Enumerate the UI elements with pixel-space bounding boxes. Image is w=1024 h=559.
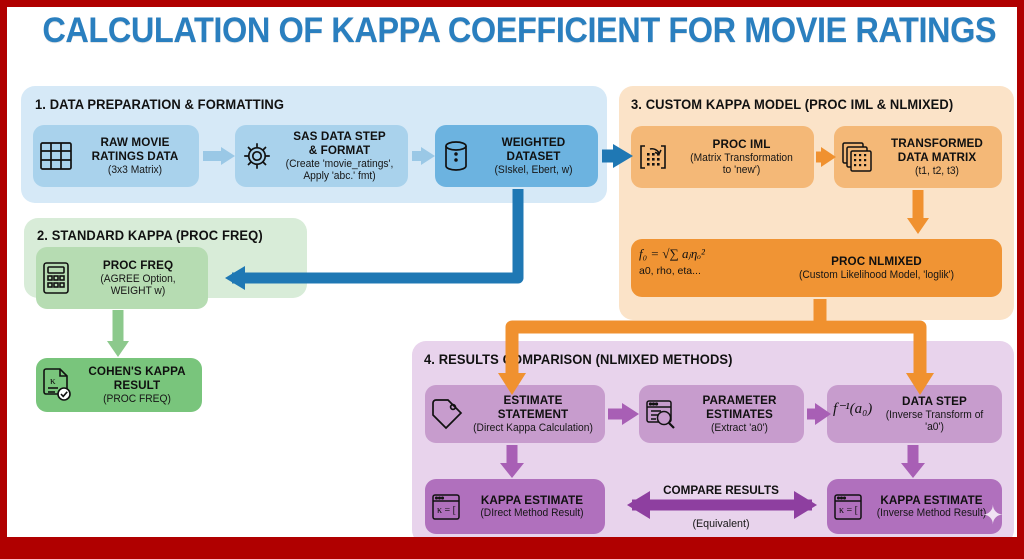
node-estimate-statement[interactable]: ESTIMATE STATEMENT (Direct Kappa Calcula… (425, 385, 605, 443)
document-kappa-check-icon: κ (42, 367, 74, 403)
node-proc-freq[interactable]: PROC FREQ (AGREE Option, WEIGHT w) (36, 247, 208, 309)
section-4-title: 4. RESULTS COMPARISON (NLMIXED METHODS) (424, 352, 733, 367)
gear-icon (241, 140, 273, 172)
window-search-icon (645, 398, 677, 430)
node-text: SAS DATA STEP & FORMAT (Create 'movie_ra… (277, 130, 402, 182)
node-text: ESTIMATE STATEMENT (Direct Kappa Calcula… (467, 394, 599, 434)
calculator-icon (42, 261, 70, 295)
database-icon (441, 139, 471, 173)
page-title: CALCULATION OF KAPPA COEFFICIENT FOR MOV… (42, 11, 981, 51)
matrix-refresh-icon (637, 140, 671, 174)
section-3-title: 3. CUSTOM KAPPA MODEL (PROC IML & NLMIXE… (631, 97, 953, 112)
svg-text:κ = [: κ = [ (839, 505, 858, 516)
node-kappa-estimate-inverse[interactable]: κ = [ KAPPA ESTIMATE (Inverse Method Res… (827, 479, 1002, 534)
compare-results-label: COMPARE RESULTS (626, 483, 816, 497)
node-text: WEIGHTED DATASET (SIskel, Ebert, w) (475, 136, 592, 176)
node-text: RAW MOVIE RATINGS DATA (3x3 Matrix) (77, 136, 193, 176)
node-weighted-dataset[interactable]: WEIGHTED DATASET (SIskel, Ebert, w) (435, 125, 598, 187)
node-text: PROC IML (Matrix Transformation to 'new'… (675, 138, 808, 176)
section-1-title: 1. DATA PREPARATION & FORMATTING (35, 97, 284, 112)
node-text: KAPPA ESTIMATE (DIrect Method Result) (465, 494, 599, 520)
node-cohens-kappa-result[interactable]: κ COHEN'S KAPPA RESULT (PROC FREQ) (36, 358, 202, 412)
table-grid-icon (39, 140, 73, 172)
node-text: COHEN'S KAPPA RESULT (PROC FREQ) (78, 365, 196, 405)
node-sas-data-step-format[interactable]: SAS DATA STEP & FORMAT (Create 'movie_ra… (235, 125, 408, 187)
window-kappa-icon: κ = [ (833, 493, 863, 521)
node-proc-iml[interactable]: PROC IML (Matrix Transformation to 'new'… (631, 126, 814, 188)
stacked-matrix-icon (840, 140, 874, 174)
node-transformed-data-matrix[interactable]: TRANSFORMED DATA MATRIX (t1, t2, t3) (834, 126, 1002, 188)
node-text: TRANSFORMED DATA MATRIX (t1, t2, t3) (878, 137, 996, 177)
arrow-proc-freq-to-cohens-kappa (107, 310, 129, 357)
inverse-function-icon: f⁻¹(a₀) (833, 399, 872, 418)
diagram-canvas: CALCULATION OF KAPPA COEFFICIENT FOR MOV… (7, 7, 1017, 537)
svg-text:κ = [: κ = [ (437, 505, 456, 516)
section-2-title: 2. STANDARD KAPPA (PROC FREQ) (37, 228, 263, 243)
formula-icon: f₀ = √∑ aⱼηₒ² a0, rho, eta... (639, 245, 759, 277)
node-text: PARAMETER ESTIMATES (Extract 'a0') (681, 394, 798, 434)
sparkle-decoration: ✦ (982, 502, 1004, 528)
node-text: PROC FREQ (AGREE Option, WEIGHT w) (74, 259, 202, 297)
node-raw-movie-ratings-data[interactable]: RAW MOVIE RATINGS DATA (3x3 Matrix) (33, 125, 199, 187)
node-parameter-estimates[interactable]: PARAMETER ESTIMATES (Extract 'a0') (639, 385, 804, 443)
node-kappa-estimate-direct[interactable]: κ = [ KAPPA ESTIMATE (DIrect Method Resu… (425, 479, 605, 534)
window-kappa-icon: κ = [ (431, 493, 461, 521)
node-text: KAPPA ESTIMATE (Inverse Method Result) (867, 494, 996, 520)
infographic-root: CALCULATION OF KAPPA COEFFICIENT FOR MOV… (0, 0, 1024, 559)
compare-results-sublabel: (Equivalent) (621, 518, 821, 530)
tag-icon (431, 398, 463, 430)
svg-text:κ: κ (50, 375, 56, 387)
